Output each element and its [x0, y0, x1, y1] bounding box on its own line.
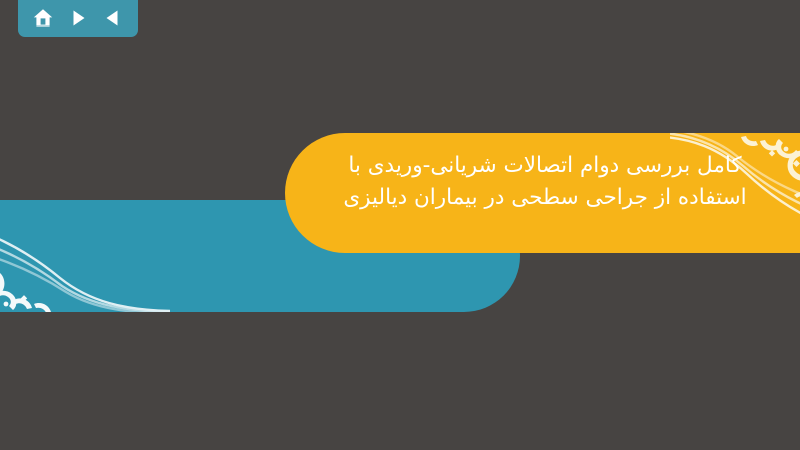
forward-button[interactable]	[65, 5, 91, 31]
navigation-bar	[18, 0, 138, 37]
triangle-right-icon	[68, 8, 88, 28]
slide-title: کامل بررسی دوام اتصالات شریانی-وریدی با …	[300, 150, 790, 214]
back-button[interactable]	[100, 5, 126, 31]
triangle-left-icon	[103, 8, 123, 28]
arabesque-ornament-teal	[0, 200, 170, 312]
title-line-2: استفاده از جراحی سطحی در بیماران دیالیزی	[300, 182, 790, 214]
home-button[interactable]	[30, 5, 56, 31]
presentation-slide: کامل بررسی دوام اتصالات شریانی-وریدی با …	[0, 0, 800, 450]
title-line-1: کامل بررسی دوام اتصالات شریانی-وریدی با	[300, 150, 790, 182]
home-icon	[32, 7, 54, 29]
